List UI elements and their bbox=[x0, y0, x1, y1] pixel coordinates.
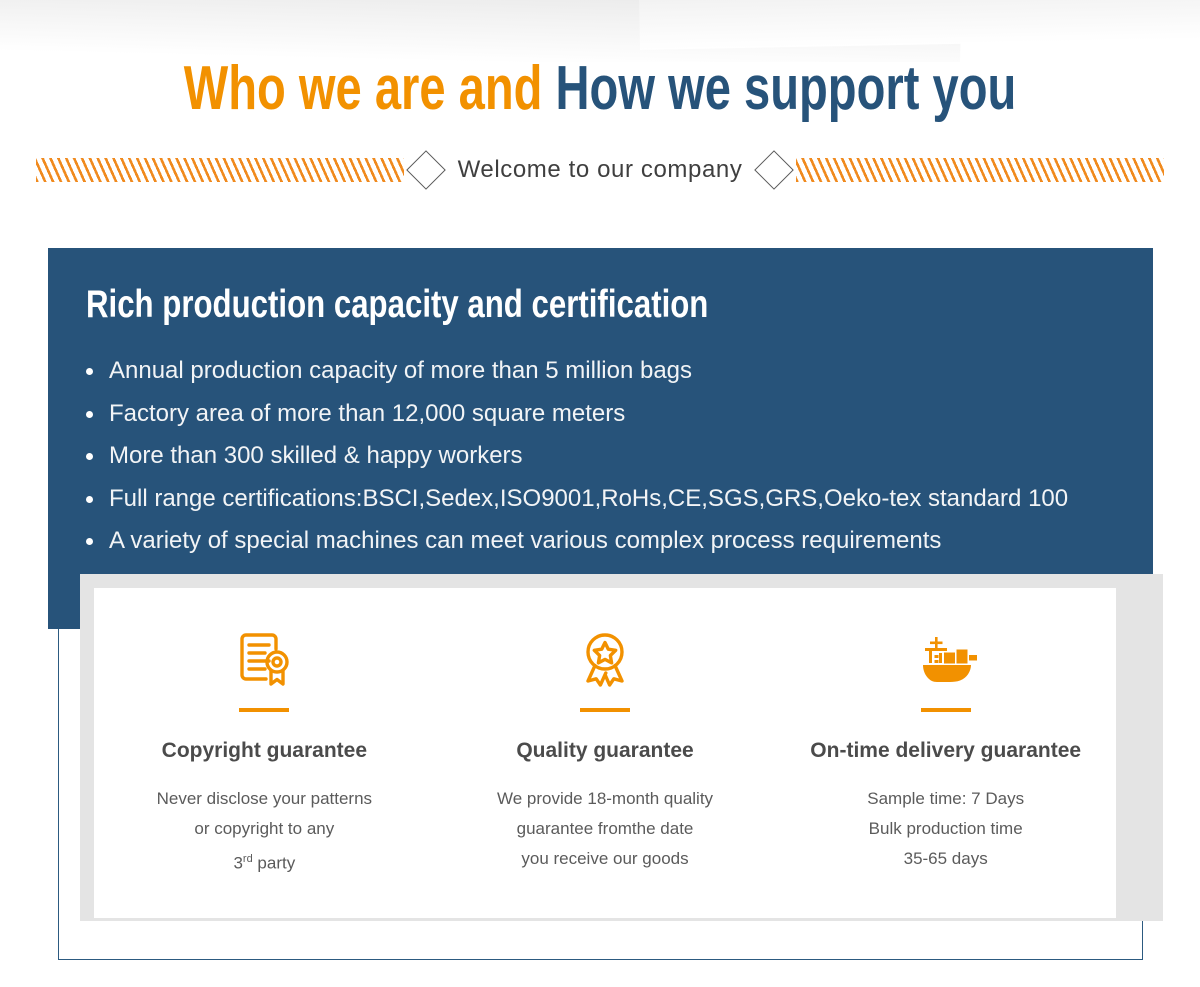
list-item: Annual production capacity of more than … bbox=[86, 350, 1153, 393]
award-medal-star-icon bbox=[573, 626, 637, 692]
guarantee-body-line: guarantee fromthe date bbox=[497, 814, 713, 844]
guarantee-title: Quality guarantee bbox=[516, 739, 693, 763]
guarantee-body-line: Sample time: 7 Days bbox=[867, 784, 1024, 814]
accent-rule bbox=[239, 708, 289, 712]
welcome-divider: Welcome to our company bbox=[36, 153, 1164, 187]
list-item: Factory area of more than 12,000 square … bbox=[86, 393, 1153, 436]
page-title: Who we are and How we support you bbox=[144, 58, 1056, 120]
guarantee-body: We provide 18-month quality guarantee fr… bbox=[497, 784, 713, 874]
guarantee-body-line-ordinal: 3rd party bbox=[157, 844, 372, 879]
ordinal-suffix: rd bbox=[243, 853, 253, 865]
diamond-icon-left bbox=[406, 150, 446, 190]
hatch-stripes-left bbox=[36, 158, 404, 182]
cargo-ship-icon bbox=[913, 626, 979, 692]
guarantee-title: Copyright guarantee bbox=[162, 739, 367, 763]
ordinal-number: 3 bbox=[233, 854, 242, 873]
guarantee-body: Never disclose your patterns or copyrigh… bbox=[157, 784, 372, 879]
top-decorative-band bbox=[0, 0, 1200, 62]
list-item: A variety of special machines can meet v… bbox=[86, 520, 1153, 563]
accent-rule bbox=[580, 708, 630, 712]
hatch-stripes-right bbox=[796, 158, 1164, 182]
capacity-bullet-list: Annual production capacity of more than … bbox=[86, 350, 1153, 563]
diamond-icon-right bbox=[755, 150, 795, 190]
guarantee-body-line: or copyright to any bbox=[157, 814, 372, 844]
top-band-wedge-right bbox=[638, 0, 1200, 50]
guarantee-body: Sample time: 7 Days Bulk production time… bbox=[867, 784, 1024, 874]
page-title-orange: Who we are and bbox=[184, 54, 556, 123]
panel-title: Rich production capacity and certificati… bbox=[86, 284, 940, 326]
guarantee-body-line: 35-65 days bbox=[867, 844, 1024, 874]
certificate-ribbon-icon bbox=[232, 626, 296, 692]
guarantee-column-copyright: Copyright guarantee Never disclose your … bbox=[94, 588, 435, 918]
top-band-wedge-left bbox=[0, 0, 962, 62]
list-item: Full range certifications:BSCI,Sedex,ISO… bbox=[86, 478, 1153, 521]
list-item: More than 300 skilled & happy workers bbox=[86, 435, 1153, 478]
capacity-panel: Rich production capacity and certificati… bbox=[48, 248, 1153, 629]
accent-rule bbox=[921, 708, 971, 712]
page-title-blue: How we support you bbox=[556, 54, 1017, 123]
guarantee-column-delivery: On-time delivery guarantee Sample time: … bbox=[775, 588, 1116, 918]
welcome-text: Welcome to our company bbox=[444, 156, 757, 184]
guarantee-body-line: We provide 18-month quality bbox=[497, 784, 713, 814]
guarantee-card: Copyright guarantee Never disclose your … bbox=[94, 588, 1116, 918]
guarantee-body-line: Bulk production time bbox=[867, 814, 1024, 844]
guarantee-body-line: Never disclose your patterns bbox=[157, 784, 372, 814]
guarantee-body-line: you receive our goods bbox=[497, 844, 713, 874]
guarantee-column-quality: Quality guarantee We provide 18-month qu… bbox=[435, 588, 776, 918]
ordinal-rest: party bbox=[253, 854, 296, 873]
guarantee-title: On-time delivery guarantee bbox=[810, 739, 1081, 763]
